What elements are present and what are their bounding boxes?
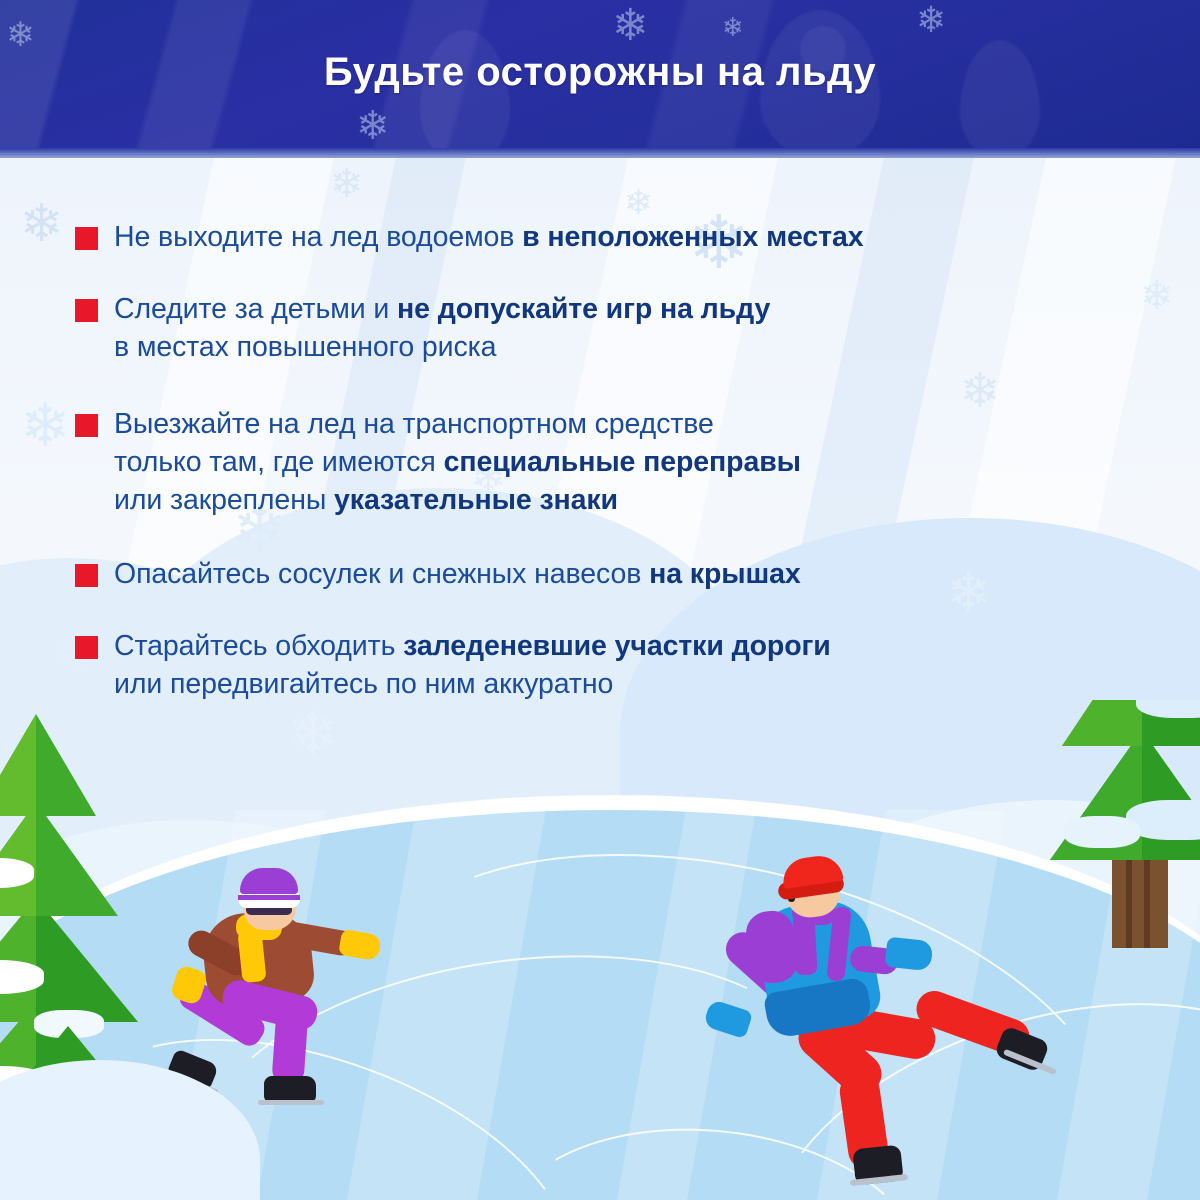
rule-emphasis: специальные переправы xyxy=(444,446,801,478)
header-bottom-gradient xyxy=(0,148,1200,158)
safety-rule-2: Следите за детьми и не допускайте игр на… xyxy=(75,290,770,366)
right-skater-scarf-tail xyxy=(792,912,817,975)
rule-emphasis: в неположенных местах xyxy=(522,221,863,253)
left-skater-hat-top xyxy=(240,868,298,894)
rule-line: только там, где имеются специальные пере… xyxy=(114,443,801,481)
rule-plain: или закреплены xyxy=(114,484,334,516)
rule-line: Следите за детьми и не допускайте игр на… xyxy=(114,290,770,328)
poster-header: ❄ ❄ ❄ ❄ ❄ Будьте осторожны на льду xyxy=(0,0,1200,158)
safety-rule-3: Выезжайте на лед на транспортном средств… xyxy=(75,405,801,519)
left-skater-front-blade xyxy=(258,1100,324,1105)
safety-rule-1: Не выходите на лед водоемов в неположенн… xyxy=(75,218,864,256)
rule-emphasis: заледеневшие участки дороги xyxy=(403,630,831,662)
safety-rule-text: Выезжайте на лед на транспортном средств… xyxy=(114,405,801,519)
safety-rule-text: Старайтесь обходить заледеневшие участки… xyxy=(114,627,831,703)
right-skater-glove-left xyxy=(703,999,753,1039)
rule-plain: Выезжайте на лед на транспортном средств… xyxy=(114,408,714,440)
left-skater-front-boot xyxy=(264,1076,316,1102)
rule-plain: Не выходите на лед водоемов xyxy=(114,221,522,253)
rule-emphasis: не допускайте игр на льду xyxy=(397,293,770,325)
rule-plain: Следите за детьми и xyxy=(114,293,397,325)
safety-rule-text: Следите за детьми и не допускайте игр на… xyxy=(114,290,770,366)
tree-tier xyxy=(0,714,36,816)
rule-line: или передвигайтесь по ним аккуратно xyxy=(114,665,831,703)
red-square-bullet-icon xyxy=(75,414,98,437)
tree-trunk xyxy=(1112,848,1168,948)
page-title: Будьте осторожны на льду xyxy=(0,50,1200,95)
safety-rule-4: Опасайтесь сосулек и снежных навесов на … xyxy=(75,555,801,593)
snowflake-icon: ❄ xyxy=(356,106,390,146)
tree-snow xyxy=(1064,816,1140,848)
left-skater-hat-stripe xyxy=(238,895,300,900)
red-square-bullet-icon xyxy=(75,227,98,250)
rule-line: Опасайтесь сосулек и снежных навесов на … xyxy=(114,555,801,593)
left-skater-front-glove xyxy=(338,929,382,962)
rule-emphasis: на крышах xyxy=(649,558,801,590)
red-square-bullet-icon xyxy=(75,299,98,322)
trunk-stripe xyxy=(1126,848,1132,948)
rule-line: Не выходите на лед водоемов в неположенн… xyxy=(114,218,864,256)
rule-plain: только там, где имеются xyxy=(114,446,444,478)
rule-plain: или передвигайтесь по ним аккуратно xyxy=(114,668,613,700)
rule-plain: в местах повышенного риска xyxy=(114,331,496,363)
safety-rule-5: Старайтесь обходить заледеневшие участки… xyxy=(75,627,831,703)
safety-rule-text: Не выходите на лед водоемов в неположенн… xyxy=(114,218,864,256)
snowflake-icon: ❄ xyxy=(612,4,649,48)
rule-emphasis: указательные знаки xyxy=(334,484,618,516)
rule-line: Выезжайте на лед на транспортном средств… xyxy=(114,405,801,443)
right-skater-glove-right xyxy=(885,937,934,972)
safety-rule-text: Опасайтесь сосулек и снежных навесов на … xyxy=(114,555,801,593)
red-square-bullet-icon xyxy=(75,564,98,587)
rule-line: Старайтесь обходить заледеневшие участки… xyxy=(114,627,831,665)
fir-tree-right-large xyxy=(1040,700,1200,950)
left-skater-front-shin xyxy=(271,1007,308,1085)
rule-plain: Старайтесь обходить xyxy=(114,630,403,662)
snowflake-icon: ❄ xyxy=(6,18,35,52)
falling-person-right xyxy=(710,855,1040,1155)
rule-line: в местах повышенного риска xyxy=(114,328,770,366)
red-square-bullet-icon xyxy=(75,636,98,659)
winter-scene-illustration xyxy=(0,700,1200,1200)
tree-tier xyxy=(1062,700,1142,746)
rule-plain: Опасайтесь сосулек и снежных навесов xyxy=(114,558,649,590)
trunk-stripe xyxy=(1144,848,1150,948)
snowflake-icon: ❄ xyxy=(916,2,946,38)
winter-safety-poster: ❄ ❄ ❄ ❄ ❄ Будьте осторожны на льду ❄ ❄ ❄… xyxy=(0,0,1200,1200)
snowflake-icon: ❄ xyxy=(722,14,744,40)
rule-line: или закреплены указательные знаки xyxy=(114,481,801,519)
safety-rules-list: Не выходите на лед водоемов в неположенн… xyxy=(0,158,1200,718)
